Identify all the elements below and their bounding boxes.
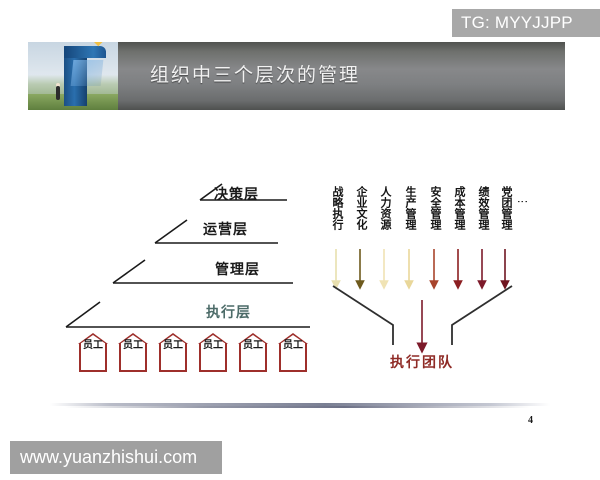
funnel-left-wall xyxy=(333,286,393,345)
bottom-left-watermark: www.yuanzhishui.com xyxy=(10,441,222,474)
funnel-right-wall xyxy=(452,286,512,345)
funnel-output-label: 执行团队 xyxy=(390,352,454,372)
funnel-input-label-safety: 安全管理 xyxy=(428,186,441,230)
funnel-input-label-strategy: 战略执行 xyxy=(330,186,343,230)
funnel-more-indicator: ⋮ xyxy=(519,196,524,209)
funnel-input-label-hr: 人力资源 xyxy=(378,186,391,230)
page-number: 4 xyxy=(528,415,533,426)
funnel-input-label-production: 生产管理 xyxy=(403,186,416,230)
funnel-input-label-cost: 成本管理 xyxy=(452,186,465,230)
funnel-diagram xyxy=(0,0,600,480)
funnel-input-label-performance: 绩效管理 xyxy=(476,186,489,230)
slide-canvas: TG: MYYJJPP 组织中三个层次的管理 决策层 运营层 管理层 执行层 xyxy=(0,0,600,480)
funnel-input-label-culture: 企业文化 xyxy=(354,186,367,230)
funnel-input-label-party: 党团管理 xyxy=(499,186,512,230)
footer-divider-secondary xyxy=(65,406,530,408)
